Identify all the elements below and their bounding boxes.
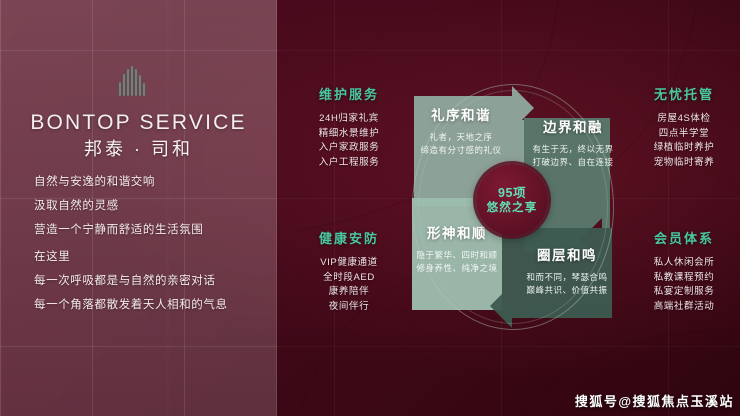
service-item: 24H归家礼宾 bbox=[290, 112, 408, 127]
service-item: 康养陪伴 bbox=[290, 285, 408, 300]
service-item: 全时段AED bbox=[290, 271, 408, 286]
service-item: 私宴定制服务 bbox=[625, 285, 740, 300]
quadrant-title: 圈层和鸣 bbox=[510, 244, 624, 264]
lead-line: 自然与安逸的和谐交响 bbox=[34, 175, 264, 190]
lead-line: 每一个角落都散发着天人相和的气息 bbox=[34, 298, 264, 313]
quadrant-top-right: 边界和融 有生于无，终以无界 打破边界、自在连接 bbox=[516, 116, 630, 169]
service-group-title: 维护服务 bbox=[290, 84, 408, 103]
quadrant-line: 修身养性、纯净之境 bbox=[400, 262, 514, 275]
service-group-health: 健康安防 VIP健康通道 全时段AED 康养陪伴 夜间伴行 bbox=[290, 228, 408, 314]
service-item: 宠物临时寄养 bbox=[625, 156, 740, 171]
quadrant-line: 缔造有分寸感的礼仪 bbox=[404, 144, 518, 157]
service-item: 房屋4S体检 bbox=[625, 112, 740, 127]
quadrant-title: 礼序和谐 bbox=[404, 104, 518, 124]
service-item: 高端社群活动 bbox=[625, 300, 740, 315]
service-item: 精细水景维护 bbox=[290, 127, 408, 142]
service-group-title: 会员体系 bbox=[625, 228, 740, 247]
service-group-maintenance: 维护服务 24H归家礼宾 精细水景维护 入户家政服务 入户工程服务 bbox=[290, 84, 408, 170]
service-group-hosting: 无忧托管 房屋4S体检 四点半学堂 绿植临时养护 宠物临时寄养 bbox=[625, 84, 740, 170]
quadrant-line: 和而不同，琴瑟合鸣 bbox=[510, 271, 624, 284]
slide-canvas: BONTOP SERVICE 邦泰 · 司和 自然与安逸的和谐交响 汲取自然的灵… bbox=[0, 0, 740, 416]
service-item: 四点半学堂 bbox=[625, 127, 740, 142]
lead-line: 汲取自然的灵感 bbox=[34, 199, 264, 214]
quadrant-line: 巅峰共识、价值共振 bbox=[510, 284, 624, 297]
lead-line: 营造一个宁静而舒适的生活氛围 bbox=[34, 223, 264, 238]
quadrant-top-left: 礼序和谐 礼者，天地之序 缔造有分寸感的礼仪 bbox=[404, 104, 518, 157]
lead-line: 每一次呼吸都是与自然的亲密对话 bbox=[34, 274, 264, 289]
quadrant-bottom-right: 圈层和鸣 和而不同，琴瑟合鸣 巅峰共识、价值共振 bbox=[510, 244, 624, 297]
quadrant-line: 有生于无，终以无界 bbox=[516, 143, 630, 156]
service-group-membership: 会员体系 私人休闲会所 私教课程预约 私宴定制服务 高端社群活动 bbox=[625, 228, 740, 314]
brand-title-en: BONTOP SERVICE bbox=[0, 111, 277, 135]
service-item: 入户家政服务 bbox=[290, 141, 408, 156]
core-count: 95项 bbox=[498, 185, 526, 201]
service-item: 入户工程服务 bbox=[290, 156, 408, 171]
service-item: 私人休闲会所 bbox=[625, 256, 740, 271]
service-group-title: 健康安防 bbox=[290, 228, 408, 247]
center-pinwheel-diagram: 礼序和谐 礼者，天地之序 缔造有分寸感的礼仪 边界和融 有生于无，终以无界 打破… bbox=[398, 72, 626, 340]
quadrant-title: 边界和融 bbox=[516, 116, 630, 136]
diagram-core-badge: 95项 悠然之享 bbox=[476, 164, 548, 236]
brand-title-cn: 邦泰 · 司和 bbox=[0, 135, 277, 161]
quadrant-line: 隐于繁华、四时和顺 bbox=[400, 249, 514, 262]
service-group-title: 无忧托管 bbox=[625, 84, 740, 103]
brand-lead-copy: 自然与安逸的和谐交响 汲取自然的灵感 营造一个宁静而舒适的生活氛围 在这里 每一… bbox=[34, 175, 264, 322]
source-watermark: 搜狐号@搜狐焦点玉溪站 bbox=[575, 391, 734, 410]
brand-emblem-icon bbox=[119, 66, 145, 96]
service-item: VIP健康通道 bbox=[290, 256, 408, 271]
service-item: 夜间伴行 bbox=[290, 300, 408, 315]
quadrant-line: 礼者，天地之序 bbox=[404, 131, 518, 144]
quadrant-line: 打破边界、自在连接 bbox=[516, 156, 630, 169]
lead-line: 在这里 bbox=[34, 250, 264, 265]
service-item: 绿植临时养护 bbox=[625, 141, 740, 156]
service-item: 私教课程预约 bbox=[625, 271, 740, 286]
core-label: 悠然之享 bbox=[487, 201, 538, 216]
